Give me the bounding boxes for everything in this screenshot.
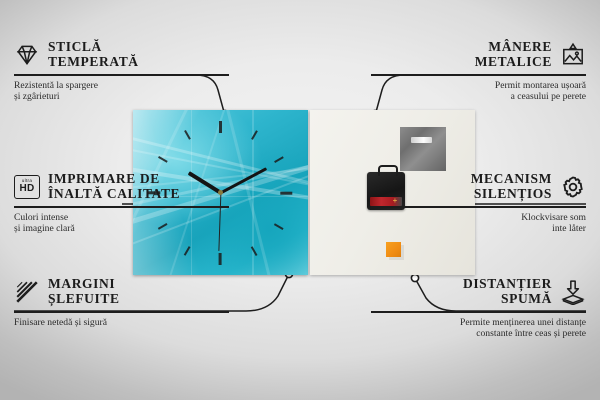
callout-foam-spacer[interactable]: DISTANȚIER SPUMĂ Permite menținerea unei…: [371, 277, 586, 340]
callout-title: MECANISM SILENȚIOS: [471, 172, 552, 201]
infographic-canvas: + STICLĂ TEMPERATĂ Rezistentă la sparger…: [0, 0, 600, 400]
callout-title: MARGINI ȘLEFUITE: [48, 277, 120, 306]
ultra-hd-icon: ultra HD: [14, 175, 40, 199]
foam-spacer-icon: [560, 279, 586, 305]
callout-title: MÂNERE METALICE: [475, 40, 552, 69]
callout-title: DISTANȚIER SPUMĂ: [463, 277, 552, 306]
foam-spacer: [386, 242, 401, 257]
callout-rule: [14, 311, 229, 313]
hanger-slot: [411, 137, 432, 143]
callout-rule: [14, 206, 229, 208]
callout-rule: [371, 74, 586, 76]
callout-subtitle: Rezistentă la spargere și zgârieturi: [14, 80, 229, 103]
callout-polished-edges[interactable]: MARGINI ȘLEFUITE Finisare netedă și sigu…: [14, 277, 229, 328]
ultra-hd-icon-large-text: HD: [19, 184, 34, 194]
callout-tempered-glass[interactable]: STICLĂ TEMPERATĂ Rezistentă la spargere …: [14, 40, 229, 103]
callout-metal-handles[interactable]: MÂNERE METALICE Permit montarea ușoară a…: [371, 40, 586, 103]
callout-subtitle: Permite menținerea unei distanțe constan…: [371, 317, 586, 340]
diamond-icon: [14, 42, 40, 68]
callout-subtitle: Permit montarea ușoară a ceasului pe per…: [371, 80, 586, 103]
metal-hanger: [400, 127, 446, 171]
callout-rule: [371, 311, 586, 313]
callout-rule: [14, 74, 229, 76]
callout-subtitle: Klockvisare som inte låter: [371, 212, 586, 235]
gear-icon: [560, 174, 586, 200]
polished-edges-icon: [14, 279, 40, 305]
picture-hanger-icon: [560, 42, 586, 68]
callout-rule: [371, 206, 586, 208]
callout-silent-mechanism[interactable]: MECANISM SILENȚIOS Klockvisare som inte …: [371, 172, 586, 235]
callout-subtitle: Culori intense și imagine clară: [14, 212, 229, 235]
callout-title: STICLĂ TEMPERATĂ: [48, 40, 139, 69]
callout-print-quality[interactable]: ultra HD IMPRIMARE DE ÎNALTĂ CALITATE Cu…: [14, 172, 229, 235]
callout-subtitle: Finisare netedă și sigură: [14, 317, 229, 329]
callout-title: IMPRIMARE DE ÎNALTĂ CALITATE: [48, 172, 180, 201]
